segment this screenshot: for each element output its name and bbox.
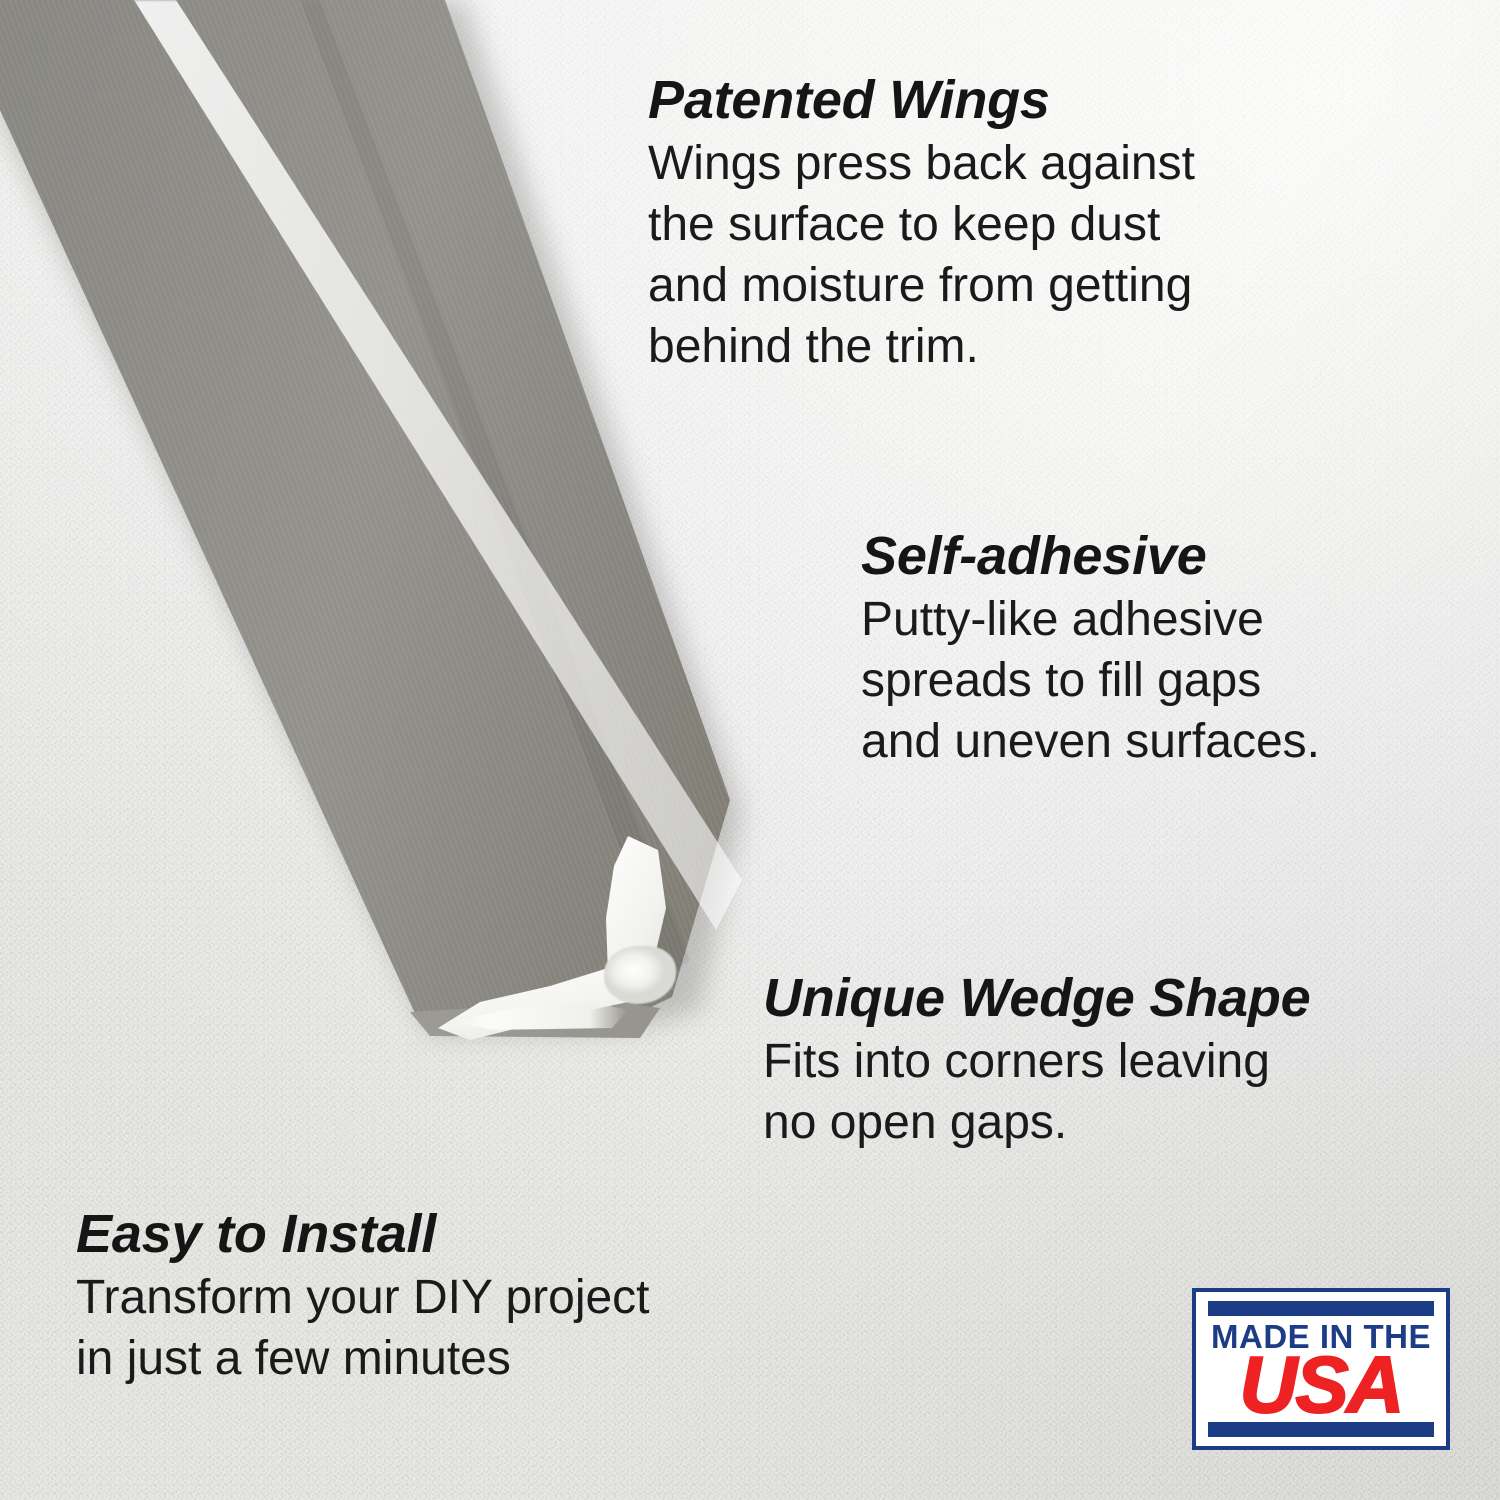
feature-body-line: Transform your DIY project [76,1268,650,1329]
feature-heading-easy-to-install: Easy to Install [76,1206,650,1262]
feature-body-line: and moisture from getting [648,256,1195,317]
feature-body-line: Putty-like adhesive [861,590,1320,651]
badge-top-bar [1208,1301,1434,1316]
feature-easy-to-install: Easy to Install Transform your DIY proje… [76,1206,650,1390]
feature-body-line: Fits into corners leaving [763,1032,1310,1093]
feature-unique-wedge-shape: Unique Wedge Shape Fits into corners lea… [763,970,1310,1154]
feature-body-patented-wings: Wings press back against the surface to … [648,134,1195,378]
feature-body-line: the surface to keep dust [648,195,1195,256]
feature-body-line: behind the trim. [648,317,1195,378]
feature-body-self-adhesive: Putty-like adhesive spreads to fill gaps… [861,590,1320,773]
feature-body-line: Wings press back against [648,134,1195,195]
feature-body-line: and uneven surfaces. [861,712,1320,773]
feature-body-line: in just a few minutes [76,1329,650,1390]
feature-body-easy-to-install: Transform your DIY project in just a few… [76,1268,650,1390]
badge-bottom-bar [1208,1422,1434,1437]
badge-usa-text: USA [1208,1351,1434,1420]
feature-body-line: no open gaps. [763,1093,1310,1154]
feature-body-unique-wedge-shape: Fits into corners leaving no open gaps. [763,1032,1310,1154]
feature-body-line: spreads to fill gaps [861,651,1320,712]
feature-heading-self-adhesive: Self-adhesive [861,528,1320,584]
made-in-the-usa-badge: MADE IN THE USA [1192,1288,1450,1450]
feature-self-adhesive: Self-adhesive Putty-like adhesive spread… [861,528,1320,773]
product-infographic: Patented Wings Wings press back against … [0,0,1500,1500]
feature-heading-unique-wedge-shape: Unique Wedge Shape [763,970,1310,1026]
feature-heading-patented-wings: Patented Wings [648,72,1195,128]
feature-patented-wings: Patented Wings Wings press back against … [648,72,1195,378]
